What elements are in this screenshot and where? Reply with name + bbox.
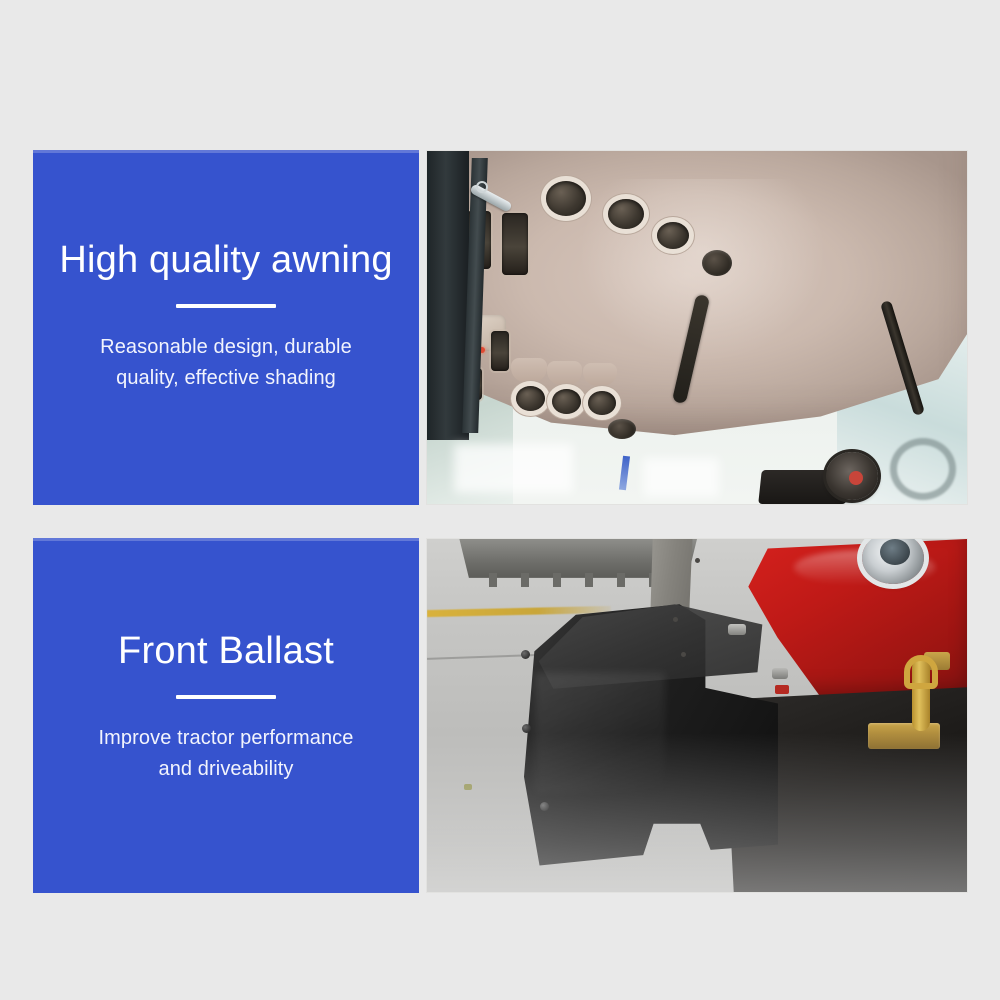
cab-fan-hub	[849, 471, 863, 485]
air-vent-2	[608, 199, 644, 229]
hydraulic-connector-2	[772, 668, 788, 679]
panel-subtitle-ballast-line2: and driveability	[158, 758, 293, 780]
info-panel-ballast: Front Ballast Improve tractor performanc…	[33, 538, 419, 893]
window-glare-1	[454, 444, 573, 493]
panel-subtitle-awning: Reasonable design, durable quality, effe…	[100, 332, 352, 394]
cab-door-latch	[476, 181, 488, 193]
info-panel-awning: High quality awning Reasonable design, d…	[33, 150, 419, 505]
front-ballast-weight-photo	[427, 539, 967, 892]
control-slot-3	[491, 331, 509, 371]
panel-title-ballast: Front Ballast	[33, 631, 419, 673]
photo-frame-awning: Interior view of a tractor cab roof head…	[426, 150, 968, 505]
photo-frame-ballast: Black front ballast weight block mounted…	[426, 538, 968, 893]
panel-divider-ballast	[176, 695, 276, 699]
floor-reflection	[427, 733, 967, 892]
panel-subtitle-ballast: Improve tractor performance and driveabi…	[98, 723, 353, 785]
tractor-cab-headliner-photo	[427, 151, 967, 504]
air-vent-1	[546, 181, 586, 216]
air-vent-6	[588, 391, 616, 415]
hydraulic-connector-1	[728, 624, 746, 635]
hydraulic-connector-red	[775, 685, 789, 694]
air-vent-3	[657, 222, 689, 249]
panel-subtitle-ballast-line1: Improve tractor performance	[98, 727, 353, 749]
control-slot-2	[502, 213, 528, 275]
panel-subtitle-awning-line1: Reasonable design, durable	[100, 336, 352, 358]
cab-speaker-1	[702, 250, 732, 276]
feature-row-ballast: Front Ballast Improve tractor performanc…	[33, 538, 968, 893]
air-vent-4	[516, 386, 545, 411]
panel-title-awning: High quality awning	[33, 240, 419, 282]
window-glare-2	[643, 458, 719, 497]
blade-hole-3	[681, 652, 686, 657]
hitch-ring	[904, 655, 938, 689]
air-vent-neck-6	[583, 363, 617, 386]
panel-subtitle-awning-line2: quality, effective shading	[116, 367, 336, 389]
blade-hole-2	[673, 617, 678, 622]
panel-divider-awning	[176, 304, 276, 308]
feature-row-awning: High quality awning Reasonable design, d…	[33, 150, 968, 505]
air-vent-neck-5	[547, 361, 582, 385]
air-vent-neck-4	[511, 358, 547, 382]
